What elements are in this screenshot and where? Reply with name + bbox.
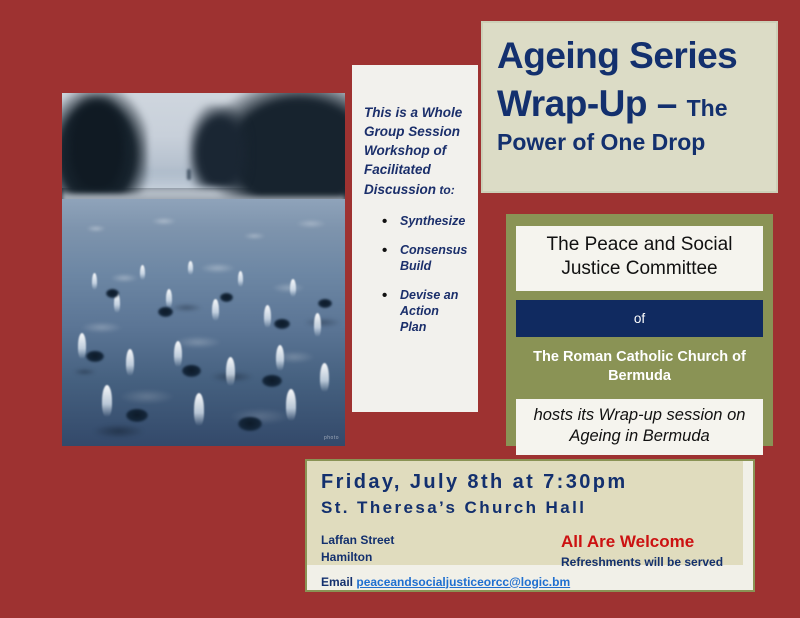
list-item: Consensus Build [386,242,468,274]
photo-ripple [238,417,262,431]
photo-ripple [262,375,282,387]
photo-splash [314,313,321,337]
event-address-column: Laffan Street Hamilton [321,532,561,569]
committee-name: The Peace and Social Justice Committee [516,226,763,291]
poster-title-box: Ageing Series Wrap-Up – The Power of One… [481,21,778,193]
photo-tree-right-2 [189,105,249,187]
list-item: Devise an Action Plan [386,287,468,335]
photo-ripple [158,307,173,317]
poster-canvas: photo This is a Whole Group Session Work… [0,0,800,618]
photo-ripple [106,289,119,298]
event-welcome-column: All Are Welcome Refreshments will be ser… [561,532,723,569]
photo-splash [188,261,193,275]
photo-splash [212,299,219,321]
photo-splash [264,305,271,328]
refreshments-note: Refreshments will be served [561,555,723,569]
photo-ripple [126,409,148,422]
page-title-line-2-small: The [687,95,728,121]
photo-splash [166,289,172,308]
page-title-line-3: Power of One Drop [497,131,776,154]
photo-ripple [318,299,332,308]
event-city: Hamilton [321,549,561,566]
workshop-lead-text: This is a Whole Group Session Workshop o… [364,103,468,199]
committee-hosts-statement: hosts its Wrap-up session on Ageing in B… [516,399,763,455]
photo-splash [320,363,329,392]
list-item: Synthesize [386,213,468,229]
photo-ripple [182,365,201,377]
event-details-box: Friday, July 8th at 7:30pm St. Theresa’s… [305,459,755,592]
event-details-columns: Laffan Street Hamilton All Are Welcome R… [321,532,753,569]
workshop-lead-tail: to: [436,183,455,197]
page-title-line-1: Ageing Series [497,37,776,74]
event-date: Friday, July 8th at 7:30pm [321,471,753,495]
rain-photo: photo [62,93,345,446]
page-title-line-2: Wrap-Up – The [497,85,776,122]
photo-splash [194,393,204,426]
photo-splash [102,385,112,417]
event-venue: St. Theresa’s Church Hall [321,497,753,518]
photo-splash [238,271,243,287]
photo-splash [140,265,145,280]
event-street: Laffan Street [321,532,561,549]
committee-connector: of [516,300,763,337]
workshop-goals-list: Synthesize Consensus Build Devise an Act… [386,213,468,335]
page-title-line-2-main: Wrap-Up – [497,83,687,124]
photo-ripple [274,319,290,329]
photo-splash [276,345,284,371]
committee-box: The Peace and Social Justice Committee o… [506,214,773,446]
photo-ripple [86,351,104,362]
photo-splash [92,273,97,290]
photo-splash [290,279,296,297]
photo-splash [286,389,296,421]
photo-splash [226,357,235,386]
welcome-message: All Are Welcome [561,533,723,552]
photo-ripple [220,293,233,302]
event-details-content: Friday, July 8th at 7:30pm St. Theresa’s… [307,461,753,589]
committee-organization: The Roman Catholic Church of Bermuda [516,348,763,387]
email-link[interactable]: peaceandsocialjusticeorcc@logic.bm [356,575,570,589]
photo-splash [126,349,134,376]
photo-tree-left-2 [68,97,126,189]
photo-splash [174,341,182,367]
photo-distant-figure [187,169,191,180]
photo-splash [78,333,86,359]
email-label: Email [321,575,356,589]
contact-email-line: Email peaceandsocialjusticeorcc@logic.bm [321,575,753,589]
photo-watermark: photo [324,435,339,441]
workshop-description-panel: This is a Whole Group Session Workshop o… [352,65,478,412]
